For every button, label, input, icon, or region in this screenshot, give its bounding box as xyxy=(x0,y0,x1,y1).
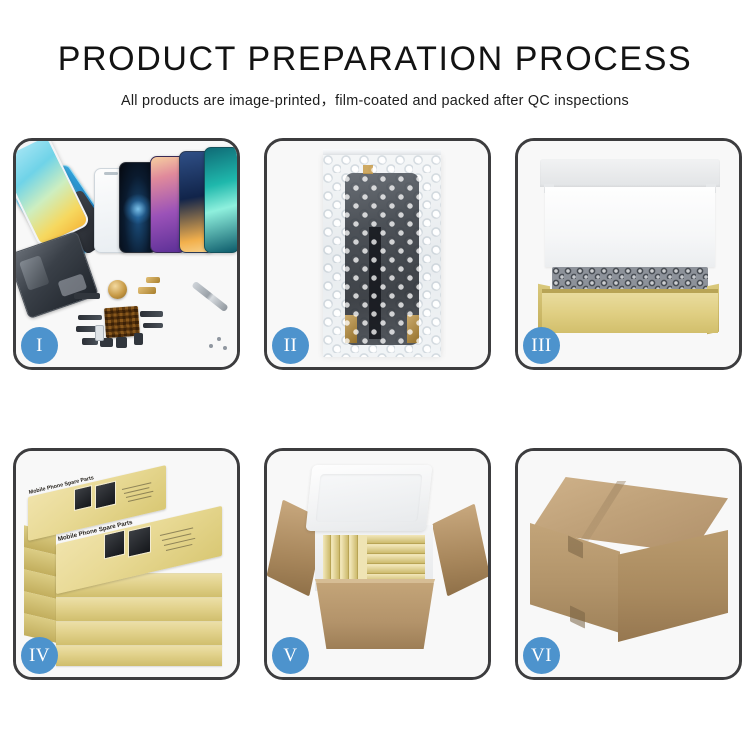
panel-stacked-retail-boxes: Mobile Phone Spare Parts Mobile Phone Sp… xyxy=(13,448,240,680)
inner-box-vertical-2 xyxy=(332,535,340,581)
stack-slab-front-2 xyxy=(56,597,222,622)
panel-foam-carton: V Shipping carton with foam cooler liner… xyxy=(264,448,491,680)
screwdriver-image xyxy=(191,281,228,312)
inner-box-horizontal-1 xyxy=(367,535,425,544)
panel-sealed-carton: VI Sealed brown shipping carton xyxy=(515,448,742,680)
panel-product-components: I Phone screens, display assemblies and … xyxy=(13,138,240,370)
stack-slab-front-4 xyxy=(56,645,222,666)
spare-part-flex-cable-1 xyxy=(78,315,102,320)
screw-3 xyxy=(223,346,227,350)
page-title: PRODUCT PREPARATION PROCESS xyxy=(0,0,750,78)
inner-box-vertical-4 xyxy=(350,535,358,581)
inner-box-vertical-1 xyxy=(323,535,331,581)
spare-part-gold-connector-2 xyxy=(146,277,160,283)
screw-1 xyxy=(217,337,221,341)
roman-numeral-1-badge: I xyxy=(21,327,58,364)
roman-numeral-4-badge: IV xyxy=(21,637,58,674)
page-subtitle: All products are image-printed，film-coat… xyxy=(0,78,750,110)
spare-part-gold-connector-1 xyxy=(138,287,156,294)
spare-part-flex-cable-2 xyxy=(76,326,97,332)
inner-box-horizontal-2 xyxy=(367,545,425,554)
vibration-motor-image xyxy=(108,280,127,299)
spare-part-chip xyxy=(134,333,143,345)
roman-numeral-6-badge: VI xyxy=(523,637,560,674)
kraft-box-front-image xyxy=(542,293,718,333)
wrapped-gold-pad-right xyxy=(407,315,419,343)
panel-inner-box: III Open kraft inner box with white foam… xyxy=(515,138,742,370)
screw-2 xyxy=(209,344,213,348)
spare-part-speaker xyxy=(74,293,100,299)
roman-numeral-3-badge: III xyxy=(523,327,560,364)
spare-part-flex-cable-4 xyxy=(140,311,163,317)
wrapped-flex-cable xyxy=(369,227,381,339)
teal-gradient-screen-image xyxy=(204,147,237,253)
box-label-phone-thumb-2 xyxy=(95,481,116,510)
wrapped-top-tab xyxy=(363,165,373,174)
panel-bubble-wrap: II Single part sealed in bubble wrap bag xyxy=(264,138,491,370)
carton-flap-right-image xyxy=(432,503,488,596)
spare-part-sim-tray xyxy=(95,325,104,341)
stack-slab-front-3 xyxy=(56,621,222,646)
box-label-phone-thumb-1 xyxy=(74,485,92,511)
bubble-wrap-bag-image xyxy=(323,155,441,357)
roman-numeral-2-badge: II xyxy=(272,327,309,364)
spare-part-flex-cable-5 xyxy=(143,323,163,328)
wrapped-gold-pad-left xyxy=(345,315,357,343)
inner-box-vertical-3 xyxy=(341,535,349,581)
inner-box-horizontal-3 xyxy=(367,555,425,564)
inner-box-horizontal-4 xyxy=(367,565,425,574)
box-stack-image: Mobile Phone Spare Parts Mobile Phone Sp… xyxy=(22,469,234,665)
foam-sheet-image xyxy=(545,187,715,267)
box-lid-image xyxy=(540,159,720,187)
box-label-phone-thumb-4 xyxy=(128,525,151,557)
box-label-phone-thumb-3 xyxy=(104,530,125,560)
roman-numeral-5-badge: V xyxy=(272,637,309,674)
process-panel-grid: I Phone screens, display assemblies and … xyxy=(13,138,742,680)
yellow-boxes-inside-image xyxy=(323,535,425,581)
foam-cooler-lid-image xyxy=(306,465,433,531)
carton-front-image xyxy=(311,583,439,649)
spare-part-camera xyxy=(116,337,127,348)
page-header: PRODUCT PREPARATION PROCESS All products… xyxy=(0,0,750,110)
carton-right-face-image xyxy=(618,530,728,642)
